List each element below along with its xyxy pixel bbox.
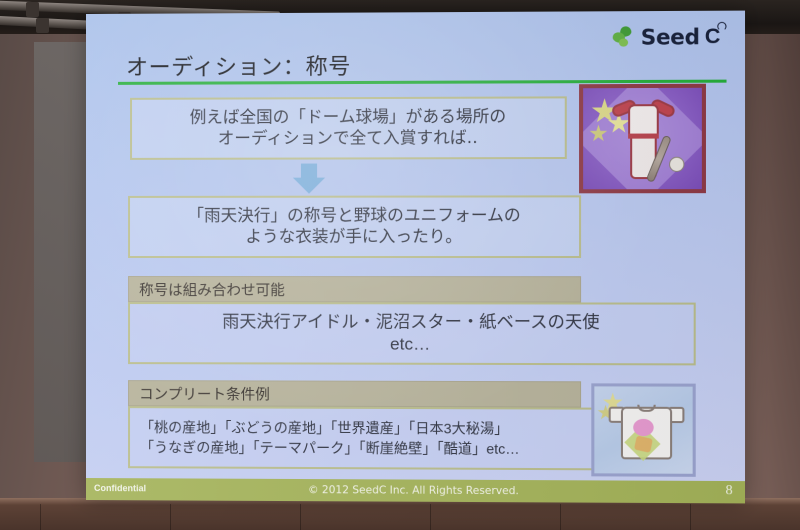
- page-title: オーディション：称号: [126, 49, 351, 82]
- statement-box-reward: 「雨天決行」の称号と野球のユニフォームの ような衣装が手に入ったり。: [128, 195, 581, 258]
- sprout-icon: [613, 26, 636, 48]
- section1-line1: 雨天決行アイドル・泥沼スター・紙ベースの天使: [222, 311, 599, 334]
- section-heading-complete-conditions: コンプリート条件例: [128, 380, 581, 407]
- seedc-logo: Seed C: [613, 25, 720, 50]
- section1-line2: etc…: [390, 333, 430, 355]
- box1-line1: 例えば全国の「ドーム球場」がある場所の: [190, 107, 506, 129]
- box1-line2: オーディションで全て入賞すれば‥: [218, 128, 478, 150]
- swirl-icon: [717, 22, 726, 31]
- section2-line1: 「桃の産地」「ぶどうの産地」「世界遺産」「日本3大秘湯」: [140, 417, 508, 439]
- projection-slide: オーディション：称号 Seed C 例えば全国の「ドーム球場」がある場所の オー…: [86, 11, 745, 504]
- section-body-combination: 雨天決行アイドル・泥沼スター・紙ベースの天使 etc…: [128, 302, 696, 365]
- copyright-text: © 2012 SeedC Inc. All Rights Reserved.: [86, 483, 745, 498]
- box2-line1: 「雨天決行」の称号と野球のユニフォームの: [187, 205, 520, 227]
- logo-text: Seed: [641, 25, 700, 50]
- pipe-clamp: [26, 2, 39, 17]
- box2-line2: ような衣装が手に入ったり。: [245, 227, 462, 248]
- slide-footer: Confidential © 2012 SeedC Inc. All Right…: [86, 478, 745, 503]
- pipe-clamp: [36, 18, 49, 33]
- baseball-uniform-card: [579, 84, 706, 194]
- presentation-photo: オーディション：称号 Seed C 例えば全国の「ドーム球場」がある場所の オー…: [0, 0, 800, 530]
- page-number: 8: [725, 483, 732, 499]
- tshirt-card: [591, 383, 695, 476]
- logo-mark-letter: C: [705, 25, 721, 49]
- section2-line2: 「うなぎの産地」「テーマパーク」「断崖絶壁」「酷道」etc…: [140, 437, 520, 459]
- baseball-icon: [669, 157, 684, 172]
- peach-icon: [633, 419, 653, 436]
- section-heading-combination: 称号は組み合わせ可能: [128, 276, 581, 302]
- statement-box-condition: 例えば全国の「ドーム球場」がある場所の オーディションで全て入賞すれば‥: [130, 96, 567, 160]
- arrow-down-icon: [293, 164, 325, 194]
